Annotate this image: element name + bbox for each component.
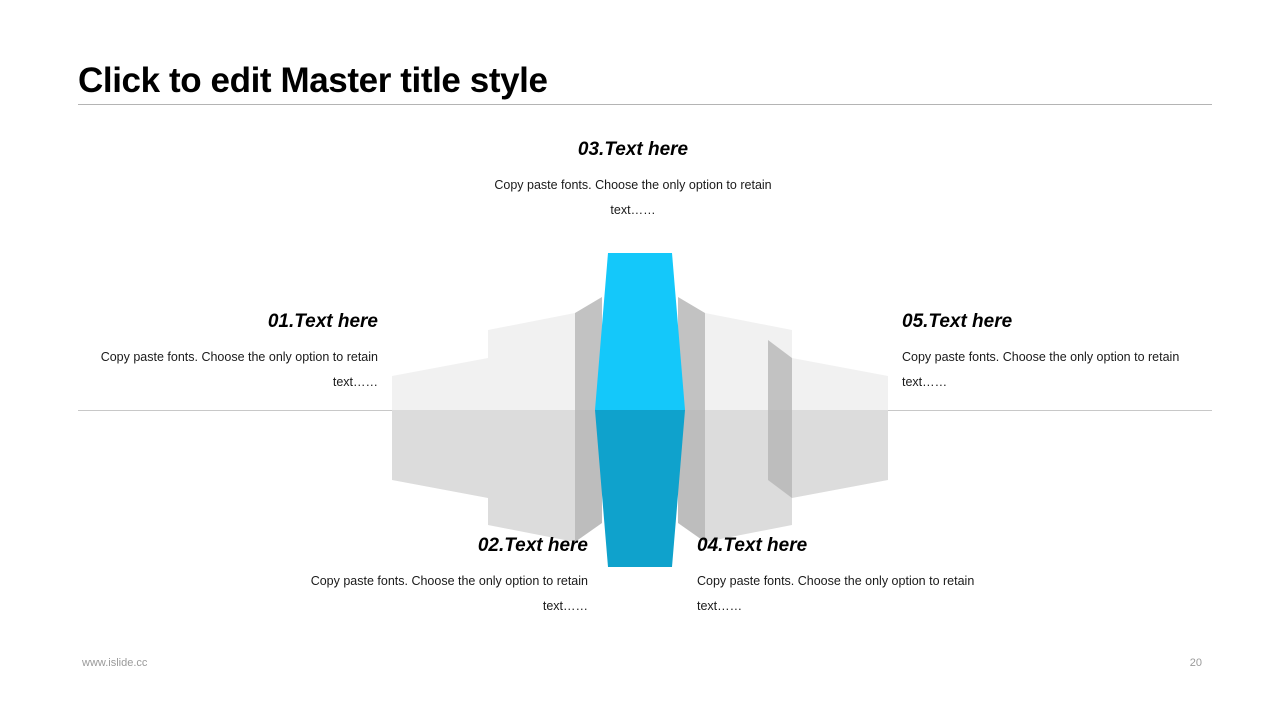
callout-05-body: Copy paste fonts. Choose the only option… bbox=[902, 345, 1200, 395]
callout-05-body-line1: Copy paste fonts. Choose the only option… bbox=[902, 350, 1145, 364]
callout-01-heading: 01.Text here bbox=[80, 310, 378, 334]
slab-5[interactable] bbox=[768, 340, 888, 498]
callout-04-heading: 04.Text here bbox=[697, 534, 995, 558]
callout-03-body: Copy paste fonts. Choose the only option… bbox=[484, 173, 782, 223]
callout-01-body: Copy paste fonts. Choose the only option… bbox=[80, 345, 378, 395]
footer-page-number: 20 bbox=[1162, 657, 1202, 669]
isometric-slab-diagram bbox=[380, 240, 900, 580]
callout-03-heading: 03.Text here bbox=[484, 138, 782, 162]
callout-04-body-line1: Copy paste fonts. Choose the only option… bbox=[697, 574, 940, 588]
callout-04-body: Copy paste fonts. Choose the only option… bbox=[697, 569, 995, 619]
callout-05-heading: 05.Text here bbox=[902, 310, 1200, 334]
callout-01[interactable]: 01.Text here Copy paste fonts. Choose th… bbox=[80, 310, 378, 395]
footer-website[interactable]: www.islide.cc bbox=[82, 657, 147, 669]
callout-03-body-line1: Copy paste fonts. Choose the only option… bbox=[494, 178, 737, 192]
callout-02-body: Copy paste fonts. Choose the only option… bbox=[290, 569, 588, 619]
callout-04[interactable]: 04.Text here Copy paste fonts. Choose th… bbox=[697, 534, 995, 619]
callout-05[interactable]: 05.Text here Copy paste fonts. Choose th… bbox=[902, 310, 1200, 395]
title-divider bbox=[78, 104, 1212, 105]
slab-2[interactable] bbox=[488, 297, 602, 542]
slab-3-highlight[interactable] bbox=[595, 253, 685, 567]
callout-02[interactable]: 02.Text here Copy paste fonts. Choose th… bbox=[290, 534, 588, 619]
callout-02-heading: 02.Text here bbox=[290, 534, 588, 558]
callout-02-body-line1: Copy paste fonts. Choose the only option… bbox=[311, 574, 554, 588]
callout-01-body-line1: Copy paste fonts. Choose the only option… bbox=[101, 350, 344, 364]
callout-03[interactable]: 03.Text here Copy paste fonts. Choose th… bbox=[484, 138, 782, 223]
page-title: Click to edit Master title style bbox=[78, 58, 1212, 103]
